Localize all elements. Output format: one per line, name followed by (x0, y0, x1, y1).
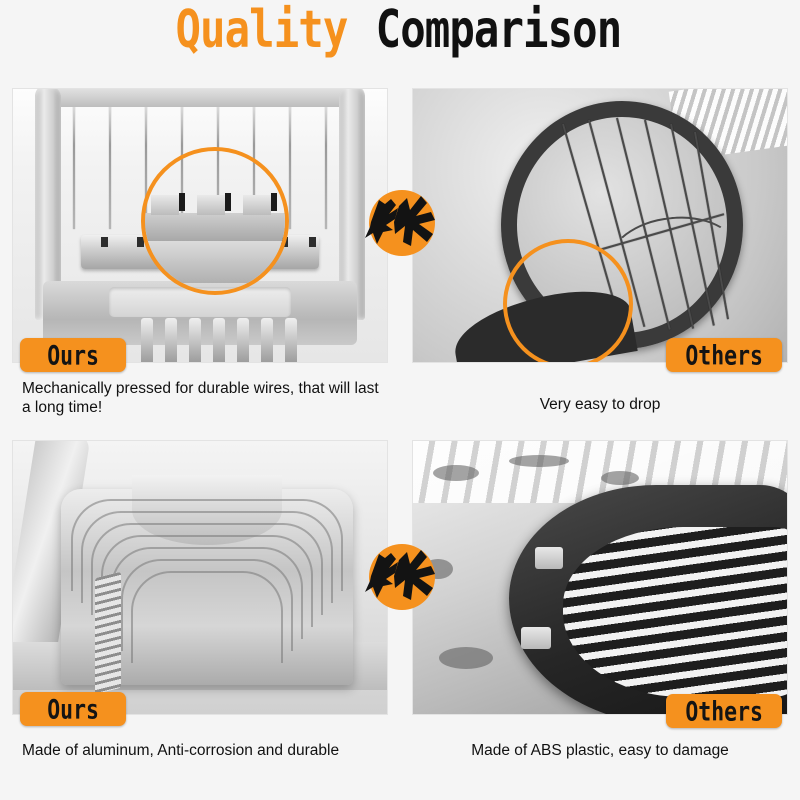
abs-slicing-grate (563, 527, 788, 697)
badge-ours-panel1: Ours (20, 338, 126, 372)
versus-badge-bottom (365, 540, 439, 614)
abs-latch (535, 547, 563, 569)
wire-anchor-notch (309, 237, 316, 247)
slicer-wire (289, 89, 291, 229)
page-title: QualityComparison (0, 8, 800, 56)
slicer-comb-tooth (213, 318, 225, 362)
slicer-wire (325, 89, 327, 229)
cradle-rib (131, 571, 283, 663)
pressed-wire-burr (225, 193, 231, 211)
pressed-wire-burr (271, 193, 277, 211)
detail-highlight-circle (141, 147, 289, 295)
background-speckle (509, 455, 569, 467)
background-speckle (601, 471, 639, 485)
aluminum-cradle (61, 489, 353, 685)
badge-others-label: Others (685, 698, 763, 725)
slicer-comb-tooth (165, 318, 177, 362)
background-speckle (433, 465, 479, 481)
panel-image-others-round (412, 88, 788, 363)
panel-image-ours-wires (12, 88, 388, 363)
badge-ours-label: Ours (47, 342, 99, 369)
abs-latch (521, 627, 551, 649)
pressed-tab (151, 195, 179, 215)
title-word-quality: Quality (176, 2, 348, 56)
caption-others-round: Very easy to drop (412, 396, 788, 415)
pressed-wire-seat (145, 213, 285, 241)
badge-ours-panel3: Ours (20, 692, 126, 726)
versus-badge-top (365, 186, 439, 260)
caption-others-body: Made of ABS plastic, easy to damage (412, 742, 788, 761)
comparison-infographic: QualityComparison (0, 0, 800, 800)
panel-image-others-body (412, 440, 788, 715)
slicer-comb-tooth (237, 318, 249, 362)
slicer-top-bar (35, 88, 365, 107)
wire-anchor-notch (101, 237, 108, 247)
badge-others-panel2: Others (666, 338, 782, 372)
slicer-wire (73, 89, 75, 229)
slicer-comb-tooth (285, 318, 297, 362)
slicer-comb-tooth (261, 318, 273, 362)
cradle-slot-teeth (95, 572, 121, 694)
badge-others-panel4: Others (666, 694, 782, 728)
pressed-tab (243, 195, 271, 215)
caption-ours-wires: Mechanically pressed for durable wires, … (22, 380, 382, 418)
pk-icon (365, 540, 439, 614)
pk-icon (365, 186, 439, 260)
title-word-comparison: Comparison (376, 2, 622, 56)
pressed-tab (197, 195, 225, 215)
slicer-comb-tooth (189, 318, 201, 362)
badge-others-label: Others (685, 342, 763, 369)
badge-ours-label: Ours (47, 696, 99, 723)
slicer-comb-tooth (141, 318, 153, 362)
detail-highlight-circle (503, 239, 633, 363)
pressed-wire-base (145, 241, 285, 283)
slicer-wire (109, 89, 111, 229)
background-speckle (439, 647, 493, 669)
caption-ours-body: Made of aluminum, Anti-corrosion and dur… (22, 742, 394, 761)
panel-image-ours-body (12, 440, 388, 715)
pressed-wire-burr (179, 193, 185, 211)
